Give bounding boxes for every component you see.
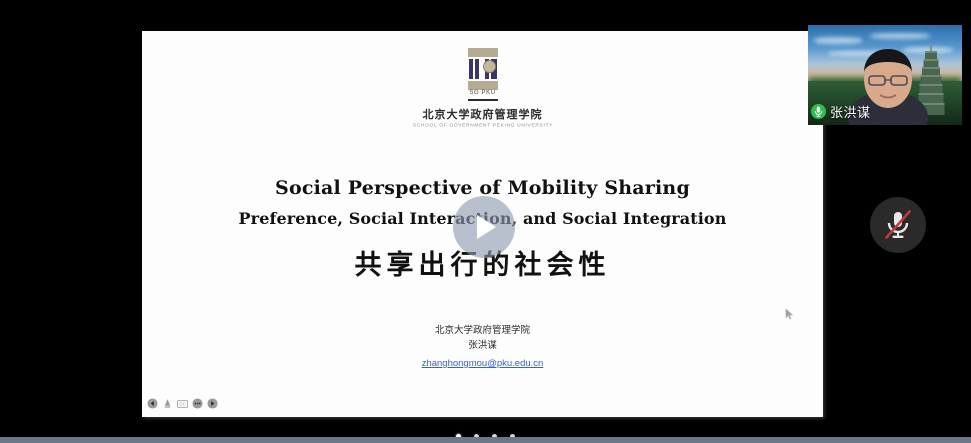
closed-caption-icon[interactable]: CC [177, 398, 188, 409]
play-icon [477, 215, 496, 239]
author-organization: 北京大学政府管理学院 [142, 323, 823, 338]
cloud-2 [870, 33, 930, 39]
institution-logo: SG PKU 北京大学政府管理学院 SCHOOL OF GOVERNMENT P… [142, 48, 823, 127]
pku-sg-logo-mark: SG PKU [464, 48, 502, 102]
logo-mark-label: SG PKU [464, 90, 502, 96]
logo-bar-top [468, 48, 498, 57]
play-button[interactable] [453, 196, 515, 258]
logo-column-1 [469, 59, 473, 79]
microphone-muted-icon [883, 208, 913, 242]
logo-bar-bottom [468, 81, 498, 90]
logo-columns [468, 59, 498, 79]
author-name: 张洪谋 [142, 338, 823, 353]
participant-name-label: 张洪谋 [830, 102, 871, 121]
previous-slide-icon[interactable] [147, 398, 158, 409]
logo-column-2 [475, 59, 479, 79]
annotate-icon[interactable] [162, 398, 173, 409]
mouse-cursor-icon [785, 308, 795, 320]
logo-circle [483, 60, 496, 73]
logo-org-en: SCHOOL OF GOVERNMENT PEKING UNIVERSITY [412, 122, 552, 127]
meeting-recording-viewer: SG PKU 北京大学政府管理学院 SCHOOL OF GOVERNMENT P… [0, 0, 971, 443]
mute-microphone-button[interactable] [870, 197, 926, 253]
participant-video-tile[interactable]: 张洪谋 [808, 25, 962, 125]
participant-nameplate: 张洪谋 [811, 102, 871, 121]
author-email-link[interactable]: zhanghongmou@pku.edu.cn [422, 358, 544, 369]
svg-text:CC: CC [179, 401, 186, 406]
slide-author-block: 北京大学政府管理学院 张洪谋 zhanghongmou@pku.edu.cn [142, 323, 823, 371]
bottom-status-bar [0, 437, 971, 443]
more-options-icon[interactable] [192, 398, 203, 409]
slide-toolbar: CC [147, 398, 218, 409]
next-slide-icon[interactable] [207, 398, 218, 409]
microphone-icon [811, 104, 826, 119]
logo-org-cn: 北京大学政府管理学院 [423, 106, 543, 122]
logo-rule [468, 99, 498, 101]
